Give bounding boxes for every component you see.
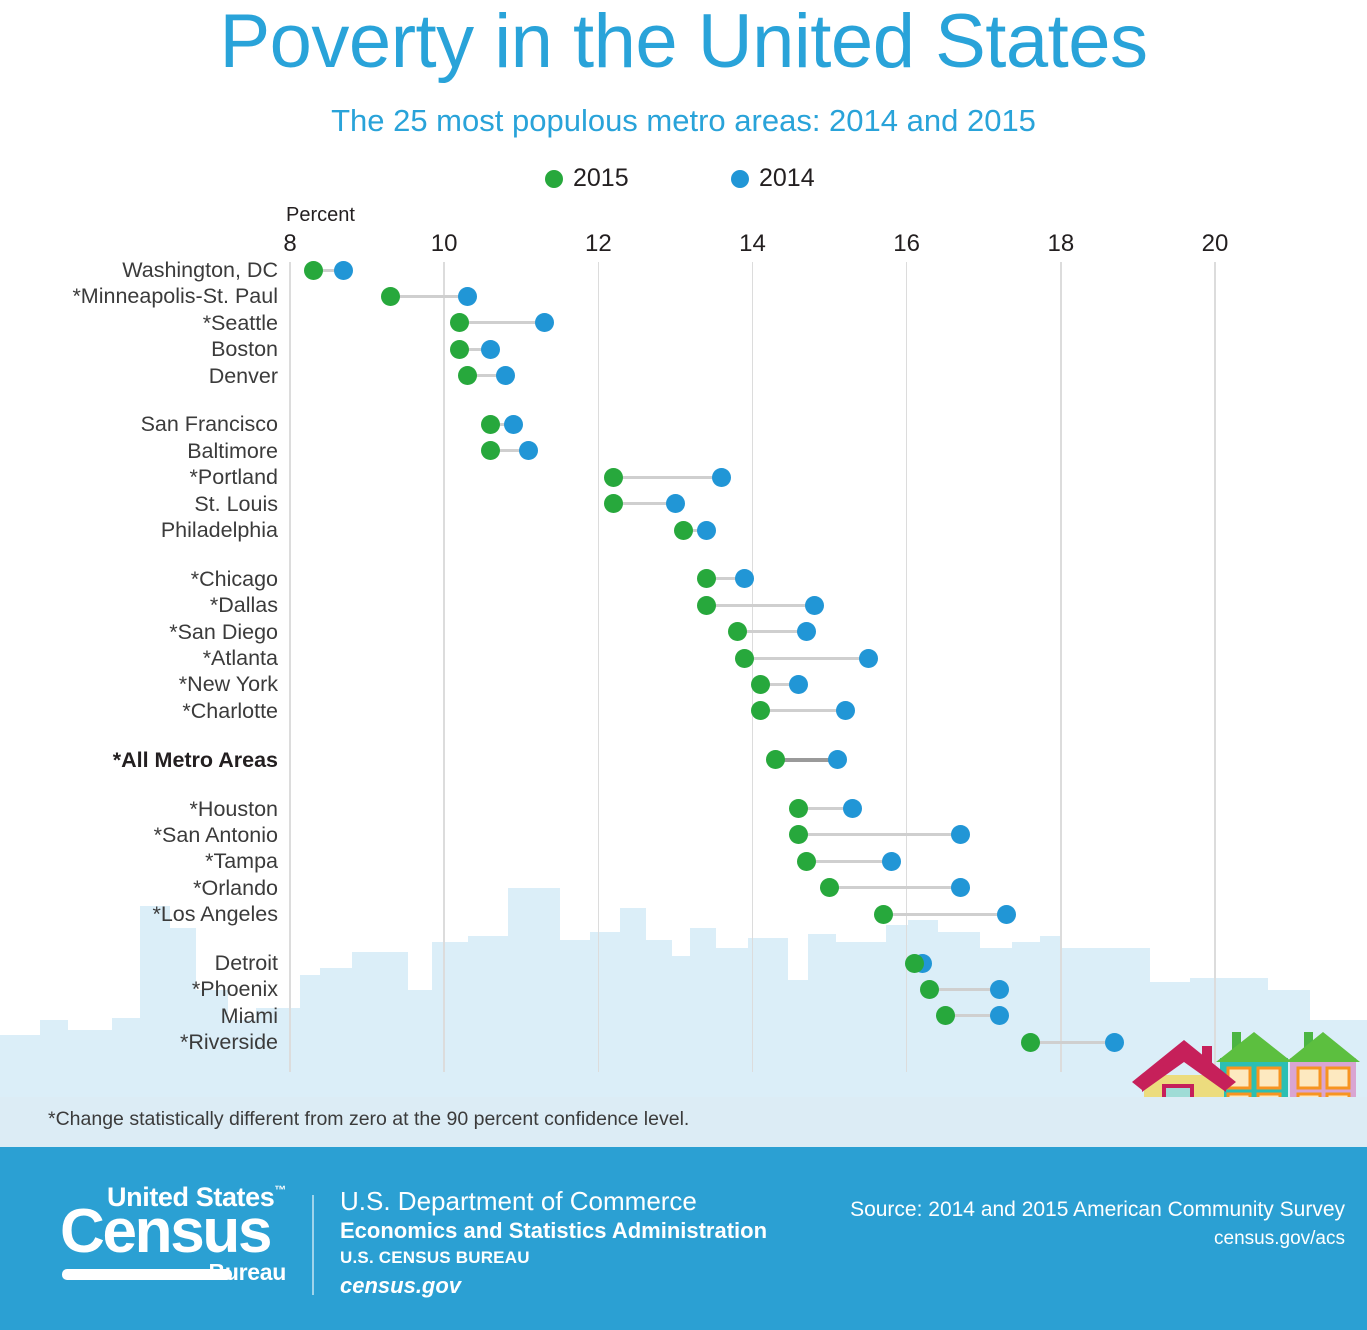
chart-row: *Charlotte xyxy=(0,698,1367,724)
row-label-orlando: *Orlando xyxy=(0,875,278,901)
page-footer: United States™ Census Bureau U.S. Depart… xyxy=(0,1147,1367,1330)
row-connector-line xyxy=(830,886,961,889)
row-label-denver: Denver xyxy=(0,363,278,389)
agency-administration: Economics and Statistics Administration xyxy=(340,1217,767,1245)
page-subtitle: The 25 most populous metro areas: 2014 a… xyxy=(0,104,1367,138)
marker-2015 xyxy=(450,313,469,332)
row-connector-line xyxy=(706,604,814,607)
chart-row: *San Diego xyxy=(0,619,1367,645)
chart-row: *San Antonio xyxy=(0,822,1367,848)
row-label-baltimore: Baltimore xyxy=(0,438,278,464)
row-label-philadelphia: Philadelphia xyxy=(0,517,278,543)
marker-2015 xyxy=(697,569,716,588)
row-label-los-angeles: *Los Angeles xyxy=(0,901,278,927)
marker-2015 xyxy=(766,750,785,769)
chart-row: Boston xyxy=(0,336,1367,362)
marker-2015 xyxy=(481,415,500,434)
row-label-tampa: *Tampa xyxy=(0,848,278,874)
row-label-seattle: *Seattle xyxy=(0,310,278,336)
source-website-link[interactable]: census.gov/acs xyxy=(850,1225,1345,1253)
chart-rows: Washington, DC*Minneapolis-St. Paul*Seat… xyxy=(0,200,1367,1100)
marker-2015 xyxy=(450,340,469,359)
row-label-san-diego: *San Diego xyxy=(0,619,278,645)
chart-row: Denver xyxy=(0,363,1367,389)
chart-row: *Dallas xyxy=(0,592,1367,618)
marker-2015 xyxy=(728,622,747,641)
chart-row: *Houston xyxy=(0,796,1367,822)
chart-legend: 2015 2014 xyxy=(0,165,1367,195)
page-title: Poverty in the United States xyxy=(0,4,1367,80)
marker-2014 xyxy=(712,468,731,487)
chart-row: Washington, DC xyxy=(0,257,1367,283)
chart-row: St. Louis xyxy=(0,491,1367,517)
chart-row: *Phoenix xyxy=(0,976,1367,1002)
chart-row: *Tampa xyxy=(0,848,1367,874)
marker-2015 xyxy=(304,261,323,280)
footer-divider xyxy=(312,1195,314,1295)
row-label-dallas: *Dallas xyxy=(0,592,278,618)
source-citation: Source: 2014 and 2015 American Community… xyxy=(850,1195,1345,1225)
row-connector-line xyxy=(806,860,891,863)
marker-2015 xyxy=(697,596,716,615)
marker-2014 xyxy=(458,287,477,306)
source-block: Source: 2014 and 2015 American Community… xyxy=(850,1195,1345,1253)
logo-line-bureau: Bureau xyxy=(209,1259,286,1285)
marker-2015 xyxy=(1021,1033,1040,1052)
marker-2014 xyxy=(735,569,754,588)
chart-row: Philadelphia xyxy=(0,517,1367,543)
row-label-st-louis: St. Louis xyxy=(0,491,278,517)
agency-block: U.S. Department of Commerce Economics an… xyxy=(340,1185,767,1301)
row-label-san-antonio: *San Antonio xyxy=(0,822,278,848)
marker-2014 xyxy=(666,494,685,513)
legend-label-2014: 2014 xyxy=(759,164,815,192)
infographic-header: Poverty in the United States The 25 most… xyxy=(0,0,1367,150)
marker-2014 xyxy=(990,1006,1009,1025)
marker-2014 xyxy=(535,313,554,332)
row-connector-line xyxy=(745,657,868,660)
row-label-phoenix: *Phoenix xyxy=(0,976,278,1002)
agency-website-link[interactable]: census.gov xyxy=(340,1271,767,1301)
row-connector-line xyxy=(799,833,961,836)
legend-item-2014: 2014 xyxy=(731,165,815,191)
chart-footnote: *Change statistically different from zer… xyxy=(48,1108,689,1131)
row-label-chicago: *Chicago xyxy=(0,566,278,592)
agency-department: U.S. Department of Commerce xyxy=(340,1185,767,1217)
row-label-detroit: Detroit xyxy=(0,950,278,976)
marker-2015 xyxy=(481,441,500,460)
legend-label-2015: 2015 xyxy=(573,164,629,192)
row-label-atlanta: *Atlanta xyxy=(0,645,278,671)
marker-2015 xyxy=(789,825,808,844)
marker-2015 xyxy=(905,954,924,973)
row-label-san-francisco: San Francisco xyxy=(0,411,278,437)
logo-line-census: Census xyxy=(60,1199,270,1265)
marker-2014 xyxy=(496,366,515,385)
marker-2014 xyxy=(789,675,808,694)
marker-2015 xyxy=(797,852,816,871)
row-connector-line xyxy=(930,988,999,991)
marker-2014 xyxy=(797,622,816,641)
marker-2015 xyxy=(820,878,839,897)
marker-2014 xyxy=(997,905,1016,924)
chart-row: *Atlanta xyxy=(0,645,1367,671)
marker-2015 xyxy=(936,1006,955,1025)
agency-bureau: U.S. CENSUS BUREAU xyxy=(340,1245,767,1271)
row-label-houston: *Houston xyxy=(0,796,278,822)
row-label-portland: *Portland xyxy=(0,464,278,490)
row-label-charlotte: *Charlotte xyxy=(0,698,278,724)
chart-row: *Minneapolis-St. Paul xyxy=(0,283,1367,309)
chart-row: *Orlando xyxy=(0,875,1367,901)
marker-2015 xyxy=(381,287,400,306)
chart-row: *New York xyxy=(0,671,1367,697)
marker-2014 xyxy=(519,441,538,460)
marker-2015 xyxy=(604,494,623,513)
marker-2014 xyxy=(859,649,878,668)
row-connector-line xyxy=(614,476,722,479)
logo-underline-bar xyxy=(62,1269,232,1280)
census-bureau-logo: United States™ Census Bureau xyxy=(40,1175,290,1290)
row-label-all-metro-areas: *All Metro Areas xyxy=(0,747,278,773)
chart-row: San Francisco xyxy=(0,411,1367,437)
chart-row: *Los Angeles xyxy=(0,901,1367,927)
circle-marker-icon xyxy=(731,170,749,188)
marker-2015 xyxy=(751,675,770,694)
marker-2014 xyxy=(836,701,855,720)
chart-row: *Seattle xyxy=(0,310,1367,336)
row-label-minneapolis-st-paul: *Minneapolis-St. Paul xyxy=(0,283,278,309)
marker-2014 xyxy=(504,415,523,434)
marker-2015 xyxy=(874,905,893,924)
row-label-riverside: *Riverside xyxy=(0,1029,278,1055)
marker-2015 xyxy=(920,980,939,999)
chart-row: *Chicago xyxy=(0,566,1367,592)
row-label-washington-dc: Washington, DC xyxy=(0,257,278,283)
trademark-icon: ™ xyxy=(274,1183,286,1197)
legend-item-2015: 2015 xyxy=(545,165,629,191)
row-label-new-york: *New York xyxy=(0,671,278,697)
marker-2015 xyxy=(751,701,770,720)
marker-2015 xyxy=(458,366,477,385)
marker-2014 xyxy=(805,596,824,615)
chart-row: *All Metro Areas xyxy=(0,747,1367,773)
chart-row: *Portland xyxy=(0,464,1367,490)
marker-2014 xyxy=(990,980,1009,999)
circle-marker-icon xyxy=(545,170,563,188)
marker-2015 xyxy=(604,468,623,487)
row-label-boston: Boston xyxy=(0,336,278,362)
marker-2014 xyxy=(481,340,500,359)
row-connector-line xyxy=(884,913,1007,916)
row-connector-line xyxy=(760,709,845,712)
marker-2014 xyxy=(843,799,862,818)
row-connector-line xyxy=(390,295,467,298)
marker-2014 xyxy=(828,750,847,769)
chart-row: Baltimore xyxy=(0,438,1367,464)
marker-2015 xyxy=(789,799,808,818)
row-connector-line xyxy=(1030,1041,1115,1044)
marker-2014 xyxy=(951,878,970,897)
marker-2014 xyxy=(1105,1033,1124,1052)
marker-2014 xyxy=(697,521,716,540)
row-label-miami: Miami xyxy=(0,1003,278,1029)
marker-2014 xyxy=(951,825,970,844)
chart-row: Detroit xyxy=(0,950,1367,976)
chart-plot-area: Percent 8101214161820 Washington, DC*Min… xyxy=(0,200,1367,1100)
row-connector-line xyxy=(460,321,545,324)
marker-2015 xyxy=(674,521,693,540)
marker-2015 xyxy=(735,649,754,668)
marker-2014 xyxy=(334,261,353,280)
marker-2014 xyxy=(882,852,901,871)
